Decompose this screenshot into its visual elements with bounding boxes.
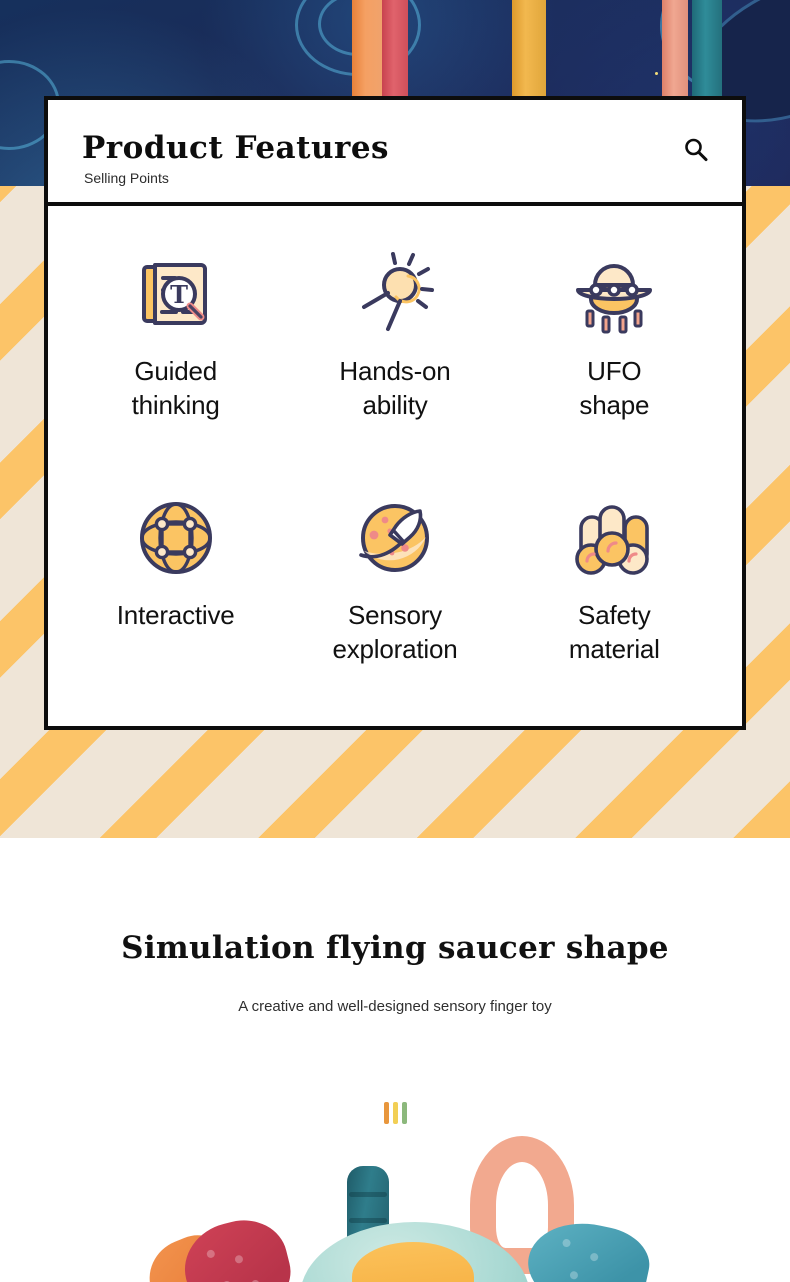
product-red-teether	[175, 1211, 298, 1282]
card-header: Product Features Selling Points	[48, 100, 742, 206]
feature-label: Hands-on ability	[339, 354, 450, 423]
feature-label: Guided thinking	[132, 354, 220, 423]
feature-label: Sensory exploration	[332, 598, 457, 667]
section-subheading: A creative and well-designed sensory fin…	[0, 998, 790, 1015]
book-magnifier-icon: T	[128, 246, 224, 342]
feature-grid: T Guided thinking	[48, 206, 742, 726]
feature-item-interactive[interactable]: Interactive	[66, 468, 285, 716]
sunburst-icon	[347, 246, 443, 342]
star-dot	[655, 72, 658, 75]
bottom-section: Simulation flying saucer shape A creativ…	[0, 838, 790, 1282]
feature-label: Interactive	[117, 598, 235, 632]
page-title: Product Features	[82, 130, 389, 166]
fingers-icon	[566, 490, 662, 586]
feature-label: Safety material	[569, 598, 660, 667]
search-button[interactable]	[674, 130, 718, 174]
feature-item-sensory-exploration[interactable]: Sensory exploration	[285, 468, 504, 716]
feature-item-safety-material[interactable]: Safety material	[505, 468, 724, 716]
ufo-icon	[566, 246, 662, 342]
product-photo	[0, 1124, 790, 1282]
feature-item-ufo-shape[interactable]: UFO shape	[505, 220, 724, 468]
divider-mark-yellow	[393, 1102, 398, 1124]
feature-item-hands-on-ability[interactable]: Hands-on ability	[285, 220, 504, 468]
svg-text:T: T	[170, 280, 188, 309]
search-icon	[681, 135, 711, 170]
divider-mark-green	[402, 1102, 407, 1124]
divider-mark-orange	[384, 1102, 389, 1124]
planet-rocket-icon	[347, 490, 443, 586]
product-features-card: Product Features Selling Points	[44, 96, 746, 730]
feature-item-guided-thinking[interactable]: T Guided thinking	[66, 220, 285, 468]
divider-marks	[0, 1102, 790, 1124]
page-subtitle: Selling Points	[84, 170, 169, 186]
network-globe-icon	[128, 490, 224, 586]
feature-label: UFO shape	[579, 354, 649, 423]
section-heading: Simulation flying saucer shape	[0, 930, 790, 966]
